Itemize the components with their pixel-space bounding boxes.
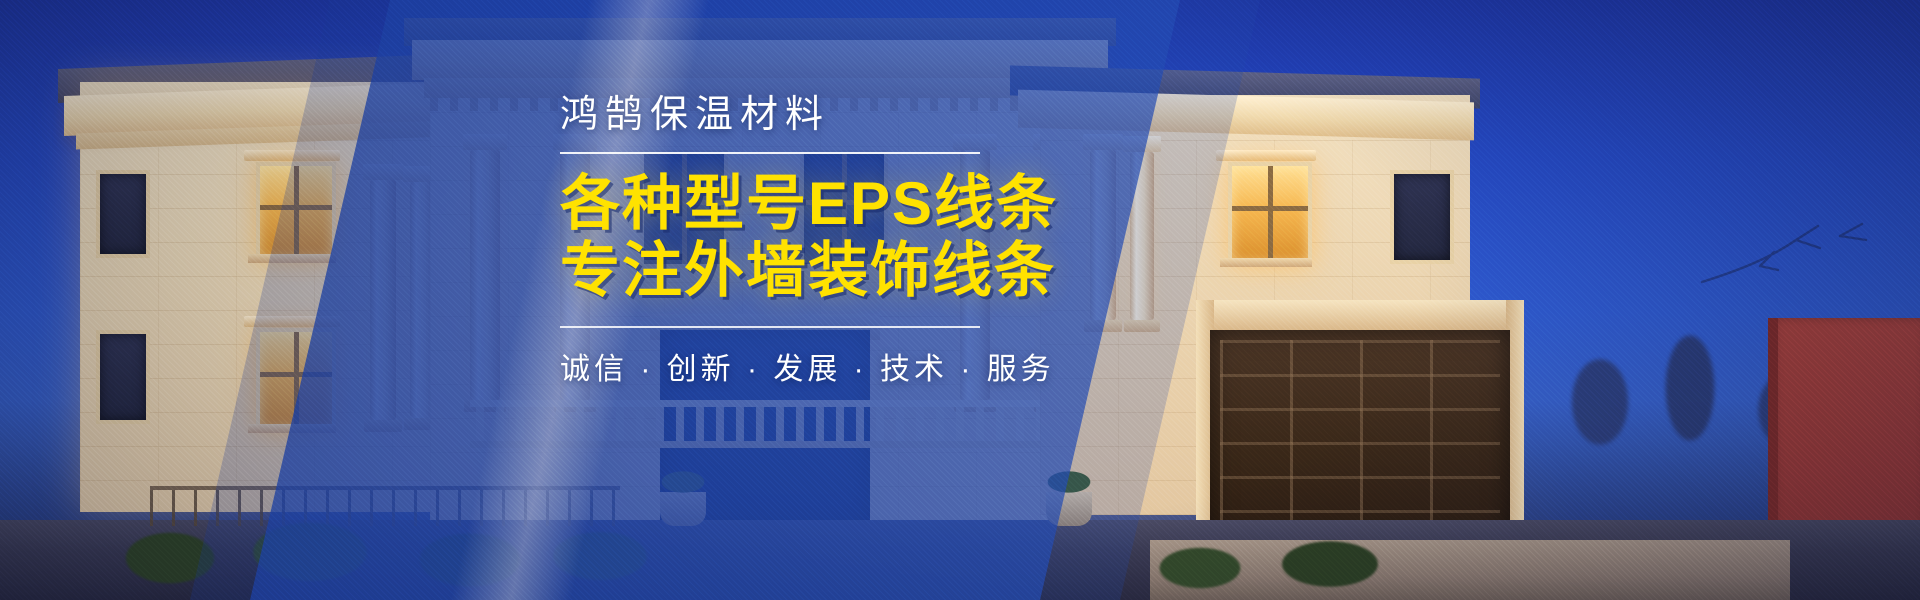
window-mullion-vertical: [294, 332, 299, 428]
tagline: 诚信 · 创新 · 发展 · 技术 · 服务: [560, 344, 1320, 388]
window-mullion-horizontal: [260, 205, 332, 210]
foreground-shrubs: [1130, 520, 1470, 600]
tree-branch: [1700, 218, 1890, 288]
lit-window: [256, 162, 336, 262]
potted-plant: [1046, 492, 1092, 526]
window-hood: [244, 316, 340, 327]
dark-window: [96, 330, 150, 424]
promo-banner: 鸿鹄保温材料 各种型号EPS线条 专注外墙装饰线条 诚信 · 创新 · 发展 ·…: [0, 0, 1920, 600]
banner-text-block: 鸿鹄保温材料 各种型号EPS线条 专注外墙装饰线条 诚信 · 创新 · 发展 ·…: [560, 96, 1320, 388]
divider-bottom: [560, 326, 980, 328]
foreground-shrubs: [80, 500, 680, 600]
dark-window: [1390, 170, 1454, 264]
dark-window: [96, 170, 150, 258]
window-sill: [248, 254, 336, 263]
balustrade: [470, 407, 1070, 441]
divider-top: [560, 152, 980, 154]
column: [470, 150, 500, 400]
column: [370, 180, 396, 420]
balustrade-base: [470, 441, 1070, 448]
window-mullion-vertical: [294, 166, 299, 258]
headline-line-2: 专注外墙装饰线条: [560, 237, 1320, 304]
balustrade-rail: [470, 400, 1070, 407]
center-cornice: [412, 40, 1108, 80]
potted-plant: [660, 492, 706, 526]
lit-window: [256, 328, 336, 432]
headline-line-1: 各种型号EPS线条: [560, 170, 1320, 237]
window-sill: [248, 424, 336, 433]
window-mullion-horizontal: [260, 372, 332, 377]
window-hood: [244, 150, 340, 161]
brand-name: 鸿鹄保温材料: [560, 96, 1320, 134]
